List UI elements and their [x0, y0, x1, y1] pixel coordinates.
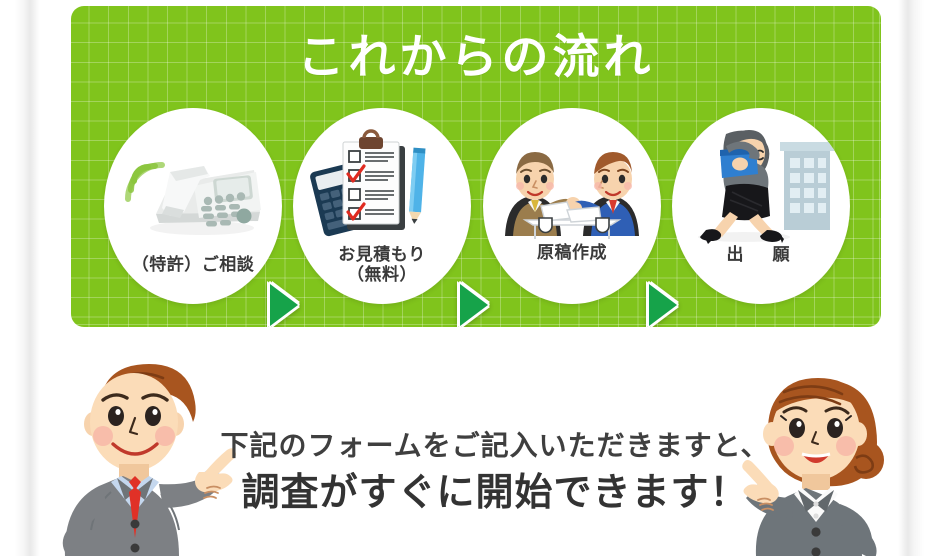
step-consultation[interactable]: （特許）ご相談: [104, 108, 282, 304]
arrow-2-icon: [460, 284, 488, 326]
telephone-icon: [104, 124, 282, 242]
message-line-2: 調査がすぐに開始できます！: [215, 469, 775, 517]
arrow-3-icon: [649, 284, 677, 326]
step-filing[interactable]: 出 願: [672, 108, 850, 304]
form-invitation-message: 下記のフォームをご記入いただきますと、 調査がすぐに開始できます！: [215, 428, 775, 517]
step-estimate-label-line1: お見積もり: [293, 245, 471, 266]
page-left-shadow: [14, 0, 40, 556]
flow-title: これからの流れ: [71, 32, 881, 84]
walking-woman-building-icon: [672, 124, 850, 242]
step-consultation-label: （特許）ご相談: [104, 255, 282, 276]
step-estimate[interactable]: お見積もり （無料）: [293, 108, 471, 304]
step-estimate-label-line2: （無料）: [293, 265, 471, 286]
flow-panel: これからの流れ: [71, 6, 881, 327]
step-drafting-label: 原稿作成: [483, 243, 661, 264]
message-line-1: 下記のフォームをご記入いただきますと、: [215, 428, 775, 463]
page-root: これからの流れ: [0, 0, 951, 556]
two-businessmen-meeting-icon: [483, 124, 661, 242]
clipboard-checklist-calculator-icon: [293, 124, 471, 242]
step-estimate-label: お見積もり （無料）: [293, 245, 471, 286]
arrow-1-icon: [270, 284, 298, 326]
step-filing-label: 出 願: [672, 245, 850, 266]
flow-steps: （特許）ご相談: [71, 108, 881, 304]
step-drafting[interactable]: 原稿作成: [483, 108, 661, 304]
